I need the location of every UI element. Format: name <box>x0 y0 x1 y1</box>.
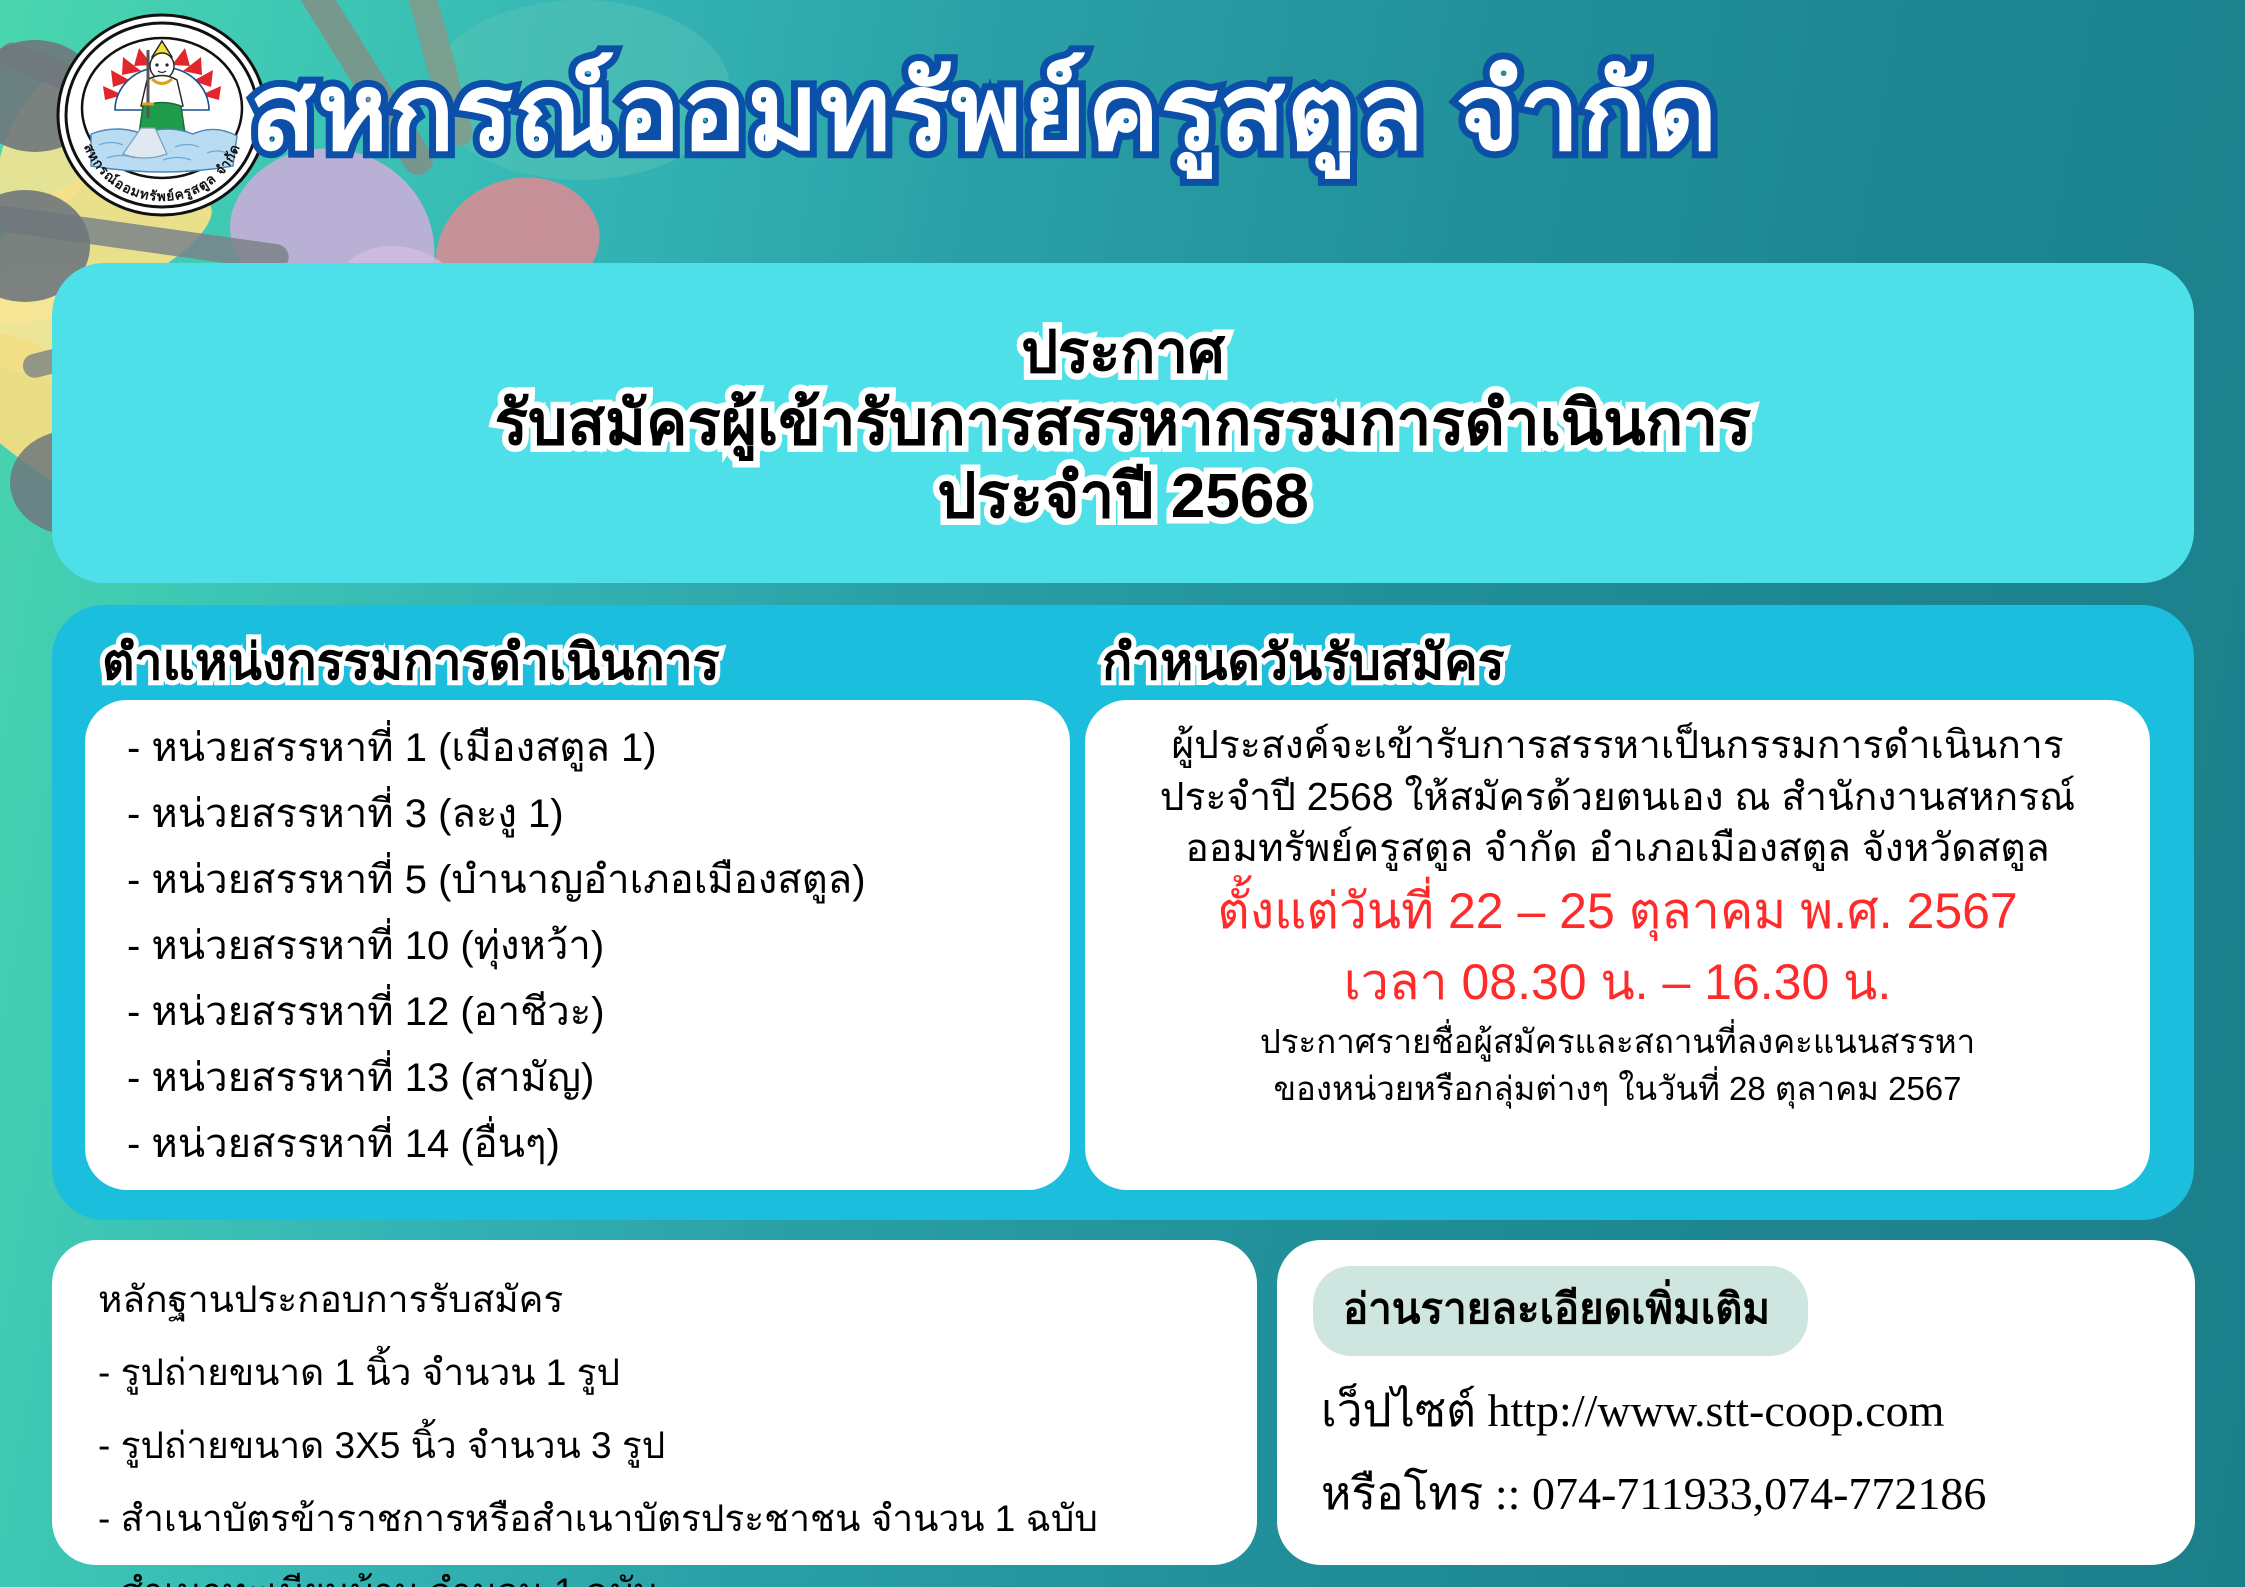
read-more-badge[interactable]: อ่านรายละเอียดเพิ่มเติม <box>1313 1266 1808 1356</box>
schedule-date-range: ตั้งแต่วันที่ 22 – 25 ตุลาคม พ.ศ. 2567 <box>1119 879 2116 944</box>
website-link[interactable]: เว็ปไซต์ http://www.stt-coop.com <box>1321 1374 2195 1447</box>
schedule-body-line-3: ออมทรัพย์ครูสตูล จำกัด อำเภอเมืองสตูล จั… <box>1119 825 2116 873</box>
list-item: - รูปถ่ายขนาด 3X5 นิ้ว จำนวน 3 รูป <box>98 1416 1257 1475</box>
announcement-line-1: ประกาศ <box>1021 319 1225 387</box>
cooperative-logo-icon: สหกรณ์ออมทรัพย์ครูสตูล จำกัด <box>55 8 270 223</box>
schedule-time-range: เวลา 08.30 น. – 16.30 น. <box>1119 950 2116 1015</box>
documents-heading: หลักฐานประกอบการรับสมัคร <box>98 1270 1257 1329</box>
list-item: - สำเนาทะเบียนบ้าน จำนวน 1 ฉบับ <box>98 1562 1257 1587</box>
list-item: - หน่วยสรรหาที่ 14 (อื่นๆ) <box>127 1124 1040 1164</box>
positions-card: - หน่วยสรรหาที่ 1 (เมืองสตูล 1) - หน่วยส… <box>85 700 1070 1190</box>
list-item: - หน่วยสรรหาที่ 5 (บำนาญอำเภอเมืองสตูล) <box>127 860 1040 900</box>
schedule-card: ผู้ประสงค์จะเข้ารับการสรรหาเป็นกรรมการดำ… <box>1085 700 2150 1190</box>
contact-card: อ่านรายละเอียดเพิ่มเติม เว็ปไซต์ http://… <box>1277 1240 2195 1565</box>
poster-root: สหกรณ์ออมทรัพย์ครูสตูล จำกัด สหกรณ์ออมทร… <box>0 0 2245 1587</box>
list-item: - สำเนาบัตรข้าราชการหรือสำเนาบัตรประชาชน… <box>98 1489 1257 1548</box>
announcement-line-2: รับสมัครผู้เข้ารับการสรรหากรรมการดำเนินก… <box>495 387 1752 460</box>
phone-numbers[interactable]: หรือโทร :: 074-711933,074-772186 <box>1321 1457 2195 1530</box>
list-item: - หน่วยสรรหาที่ 3 (ละงู 1) <box>127 794 1040 834</box>
list-item: - หน่วยสรรหาที่ 12 (อาชีวะ) <box>127 992 1040 1032</box>
list-item: - หน่วยสรรหาที่ 1 (เมืองสตูล 1) <box>127 728 1040 768</box>
list-item: - รูปถ่ายขนาด 1 นิ้ว จำนวน 1 รูป <box>98 1343 1257 1402</box>
schedule-body-line-2: ประจำปี 2568 ให้สมัครด้วยตนเอง ณ สำนักงา… <box>1119 774 2116 822</box>
schedule-note-line-1: ประกาศรายชื่อผู้สมัครและสถานที่ลงคะแนนสร… <box>1119 1021 2116 1062</box>
schedule-body-line-1: ผู้ประสงค์จะเข้ารับการสรรหาเป็นกรรมการดำ… <box>1119 722 2116 770</box>
positions-heading: ตำแหน่งกรรมการดำเนินการ <box>102 623 720 702</box>
org-title: สหกรณ์ออมทรัพย์ครูสตูล จำกัด <box>250 22 1950 202</box>
documents-card: หลักฐานประกอบการรับสมัคร - รูปถ่ายขนาด 1… <box>52 1240 1257 1565</box>
main-panel: ตำแหน่งกรรมการดำเนินการ กำหนดวันรับสมัคร… <box>52 605 2194 1220</box>
announcement-panel: ประกาศ รับสมัครผู้เข้ารับการสรรหากรรมการ… <box>52 263 2194 583</box>
schedule-heading: กำหนดวันรับสมัคร <box>1102 623 1505 702</box>
list-item: - หน่วยสรรหาที่ 10 (ทุ่งหว้า) <box>127 926 1040 966</box>
schedule-note-line-2: ของหน่วยหรือกลุ่มต่างๆ ในวันที่ 28 ตุลาค… <box>1119 1068 2116 1109</box>
list-item: - หน่วยสรรหาที่ 13 (สามัญ) <box>127 1058 1040 1098</box>
announcement-line-3: ประจำปี 2568 <box>937 460 1309 533</box>
